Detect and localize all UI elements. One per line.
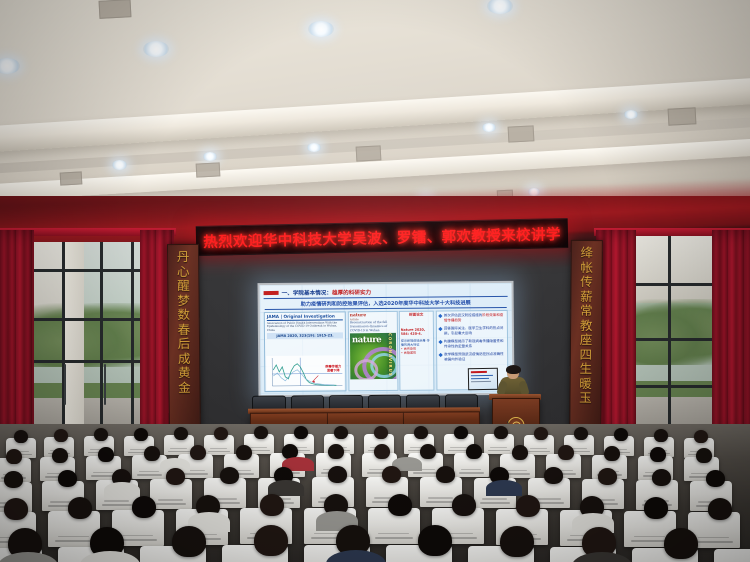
audience-head bbox=[174, 427, 188, 440]
window-transom bbox=[628, 283, 720, 286]
audience-head bbox=[374, 426, 388, 439]
audience-head bbox=[534, 427, 548, 440]
slide-bullet: 回答国际关注、医学卫生学科的热点问题，引起重大反响 bbox=[439, 326, 506, 336]
audience-head bbox=[134, 428, 148, 441]
jama-article-title: Association of Public Health Interventio… bbox=[265, 320, 345, 332]
plaque-char: 四 bbox=[580, 348, 593, 361]
confidence-monitor bbox=[468, 368, 498, 391]
ceiling-downlight bbox=[482, 123, 496, 132]
audience-shoulders bbox=[486, 480, 522, 496]
diamond-bullet-icon bbox=[438, 314, 442, 318]
audience-head bbox=[694, 430, 708, 443]
plaque-char: 成 bbox=[178, 352, 191, 365]
plaque-char: 玉 bbox=[579, 392, 592, 405]
window-transom bbox=[628, 385, 720, 388]
slide-bullet-text: 数学模型预测武汉疫情防控拐点准确性被国内外验证 bbox=[444, 352, 506, 362]
diamond-bullet-icon bbox=[438, 340, 442, 344]
chart-annotation: 病毒传播力显著下降 bbox=[325, 365, 341, 373]
audience-head bbox=[166, 468, 185, 485]
door-handle[interactable] bbox=[104, 364, 106, 406]
audience-head bbox=[436, 466, 455, 483]
monitor-line bbox=[471, 375, 493, 377]
plaque-char: 座 bbox=[580, 334, 593, 347]
seat bbox=[714, 549, 750, 562]
ceiling-vent bbox=[508, 125, 535, 142]
audience-shoulders bbox=[104, 482, 140, 498]
audience-head bbox=[654, 429, 668, 442]
nature-cover-image: nature CORONAVIRUS bbox=[350, 333, 396, 379]
audience-head bbox=[68, 497, 92, 519]
jama-citation: JAMA 2020, 323(19): 1915-23. bbox=[267, 333, 343, 340]
speaker-hair bbox=[506, 365, 521, 375]
audience-head bbox=[644, 497, 668, 519]
audience-head bbox=[706, 470, 725, 487]
virus-ring-graphic bbox=[354, 359, 378, 379]
plaque-char: 金 bbox=[178, 381, 191, 394]
ceiling bbox=[0, 0, 750, 205]
curtain-panel[interactable] bbox=[0, 230, 34, 435]
plaque-char: 心 bbox=[177, 265, 190, 278]
audience-head bbox=[516, 495, 540, 517]
audience-head bbox=[454, 426, 468, 439]
ceiling-downlight bbox=[308, 21, 334, 37]
nature-annotation-panel: 封面论文 Nature 2020, 584: 420-4. 提示新冠疫情病毒 传… bbox=[399, 311, 435, 391]
window-right bbox=[628, 236, 720, 432]
audience-head bbox=[4, 498, 28, 520]
jama-epidemic-chart: 病毒传播力显著下降 bbox=[266, 355, 344, 390]
nature-cover-headline: CORONAVIRUS bbox=[388, 333, 393, 376]
audience-head bbox=[664, 528, 698, 559]
monitor-line bbox=[471, 378, 489, 380]
audience-head bbox=[14, 430, 28, 443]
slide-title-number: 一、 bbox=[282, 290, 293, 296]
diamond-bullet-icon bbox=[439, 353, 443, 357]
audience-head bbox=[294, 426, 308, 439]
audience-head bbox=[420, 444, 436, 459]
plaque-char: 后 bbox=[178, 338, 191, 351]
audience-head bbox=[708, 498, 732, 520]
slide-center-panel: nature Article Reconstruction of the ful… bbox=[348, 311, 435, 392]
audience-head bbox=[418, 525, 452, 556]
plaque-char: 醒 bbox=[177, 280, 190, 293]
audience-head bbox=[172, 526, 206, 557]
ceiling-vent bbox=[196, 162, 221, 177]
plaque-char: 丹 bbox=[177, 251, 190, 264]
nature-cover-wordmark: nature bbox=[352, 335, 381, 345]
audience-head bbox=[500, 526, 534, 557]
plaque-char: 梦 bbox=[177, 294, 190, 307]
ceiling-vent bbox=[356, 145, 382, 161]
audience-head bbox=[494, 426, 508, 439]
ceiling-vent bbox=[99, 0, 132, 19]
calligraphy-plaque-right: 绛 帐 传 薪 常 教 座 四 生 暖 玉 bbox=[569, 240, 603, 438]
ceiling-downlight bbox=[624, 110, 638, 119]
audience-head bbox=[574, 427, 588, 440]
audience-head bbox=[388, 494, 412, 516]
audience-head bbox=[652, 469, 671, 486]
audience-head bbox=[144, 446, 160, 461]
audience-head bbox=[452, 494, 476, 516]
nature-note: 提示新冠疫情病毒 传播的两大特征 bbox=[401, 338, 432, 347]
outdoor-trees bbox=[628, 299, 720, 366]
window-transom bbox=[28, 360, 148, 363]
audience-area bbox=[0, 424, 750, 562]
audience-head bbox=[254, 426, 268, 439]
slide-title: 一、学院基本情况：雄厚的科研实力 bbox=[282, 288, 372, 297]
plaque-char: 传 bbox=[580, 276, 593, 289]
calligraphy-plaque-left: 丹 心 醒 梦 数 春 后 成 黄 金 bbox=[167, 244, 201, 438]
plaque-char: 生 bbox=[579, 363, 592, 376]
outdoor-trees bbox=[28, 303, 148, 368]
monitor-line bbox=[471, 371, 487, 373]
ceiling-vent bbox=[60, 171, 83, 185]
cover-paper-label: 封面论文 bbox=[401, 313, 432, 318]
slide-bullet: 数学模型预测武汉疫情防控拐点准确性被国内外验证 bbox=[439, 352, 506, 362]
audience-head bbox=[52, 448, 68, 463]
slide-bullet: 构建模型揭示了新冠病毒传播隐匿性和传染性的定量关系 bbox=[439, 339, 506, 349]
audience-head bbox=[466, 444, 482, 459]
plaque-char: 常 bbox=[580, 305, 593, 318]
audience-head bbox=[334, 426, 348, 439]
audience-head bbox=[94, 428, 108, 441]
ceiling-downlight bbox=[112, 160, 127, 170]
audience-head bbox=[220, 467, 239, 484]
ceiling-downlight bbox=[143, 41, 169, 57]
slide-title-highlight: 雄厚的科研实力 bbox=[332, 290, 371, 296]
audience-head bbox=[650, 447, 666, 462]
audience-head bbox=[696, 448, 712, 463]
diamond-bullet-icon bbox=[438, 327, 442, 331]
audience-head bbox=[328, 444, 344, 459]
plaque-char: 绛 bbox=[580, 247, 593, 260]
audience-head bbox=[260, 494, 284, 516]
ceiling-downlight bbox=[203, 152, 217, 161]
audience-head bbox=[328, 466, 347, 483]
nature-bullet: • 高隐匿性 bbox=[401, 351, 432, 355]
slide-bullet-text: 构建模型揭示了新冠病毒传播隐匿性和传染性的定量关系 bbox=[444, 339, 506, 349]
jama-title-text: Association of Public Health Interventio… bbox=[267, 320, 337, 331]
outdoor-building bbox=[628, 236, 720, 303]
slide-bullet-text: 回答国际关注、医学卫生学科的热点问题，引起重大反响 bbox=[444, 326, 506, 336]
audience-head bbox=[558, 445, 574, 460]
audience-head bbox=[54, 429, 68, 442]
audience-head bbox=[598, 468, 617, 485]
monitor-line bbox=[471, 381, 491, 383]
plaque-char: 教 bbox=[580, 319, 593, 332]
plaque-char: 薪 bbox=[580, 290, 593, 303]
lecture-hall-photo: 热烈欢迎华中科技大学吴波、罗镭、郭欢教授来校讲学 丹 心 醒 梦 数 春 后 成… bbox=[0, 0, 750, 562]
door-handle[interactable] bbox=[64, 364, 66, 406]
slide-bullet: 首次评估武汉防控措施的阶段效果和疫情传播趋势 bbox=[439, 313, 506, 323]
audience-head bbox=[6, 449, 22, 464]
nature-bullet-text: 高隐匿性 bbox=[404, 351, 416, 355]
audience-head bbox=[604, 446, 620, 461]
curtain-panel[interactable] bbox=[712, 230, 750, 435]
audience-head bbox=[254, 525, 288, 556]
bullet-main: 首次评估武汉防控措施的 bbox=[444, 313, 483, 317]
audience-head bbox=[132, 496, 156, 518]
window-transom bbox=[628, 338, 720, 341]
window-transom bbox=[28, 269, 148, 272]
ceiling-vent bbox=[668, 107, 697, 125]
audience-head bbox=[98, 447, 114, 462]
audience-head bbox=[382, 466, 401, 483]
nature-citation: Nature 2020, 584: 420-4. bbox=[401, 328, 432, 337]
audience-head bbox=[512, 445, 528, 460]
audience-head bbox=[190, 445, 206, 460]
plaque-char: 帐 bbox=[580, 261, 593, 274]
window-mullion bbox=[668, 236, 671, 432]
slide-title-main: 学院基本情况： bbox=[293, 290, 332, 296]
slide-left-panel: JAMA | Original Investigation Associatio… bbox=[264, 311, 347, 392]
audience-head bbox=[214, 427, 228, 440]
plaque-char: 黄 bbox=[178, 367, 191, 380]
slide-bullet-text: 首次评估武汉防控措施的阶段效果和疫情传播趋势 bbox=[444, 313, 506, 323]
window-left bbox=[28, 242, 148, 432]
audience-head bbox=[414, 426, 428, 439]
audience-head bbox=[58, 470, 77, 487]
audience-head bbox=[374, 444, 390, 459]
plaque-char: 春 bbox=[178, 323, 191, 336]
ceiling-downlight bbox=[307, 143, 321, 152]
led-banner-text: 热烈欢迎华中科技大学吴波、罗镭、郭欢教授来校讲学 bbox=[203, 223, 561, 252]
plaque-char: 数 bbox=[177, 309, 190, 322]
nature-article-title: Reconstruction of the full transmission … bbox=[350, 321, 396, 333]
window-transom bbox=[28, 318, 148, 321]
slide-title-marker bbox=[264, 290, 279, 294]
audience-head bbox=[4, 471, 23, 488]
plaque-char: 暖 bbox=[579, 377, 592, 390]
audience-head bbox=[544, 467, 563, 484]
audience-head bbox=[614, 428, 628, 441]
audience-head bbox=[236, 445, 252, 460]
